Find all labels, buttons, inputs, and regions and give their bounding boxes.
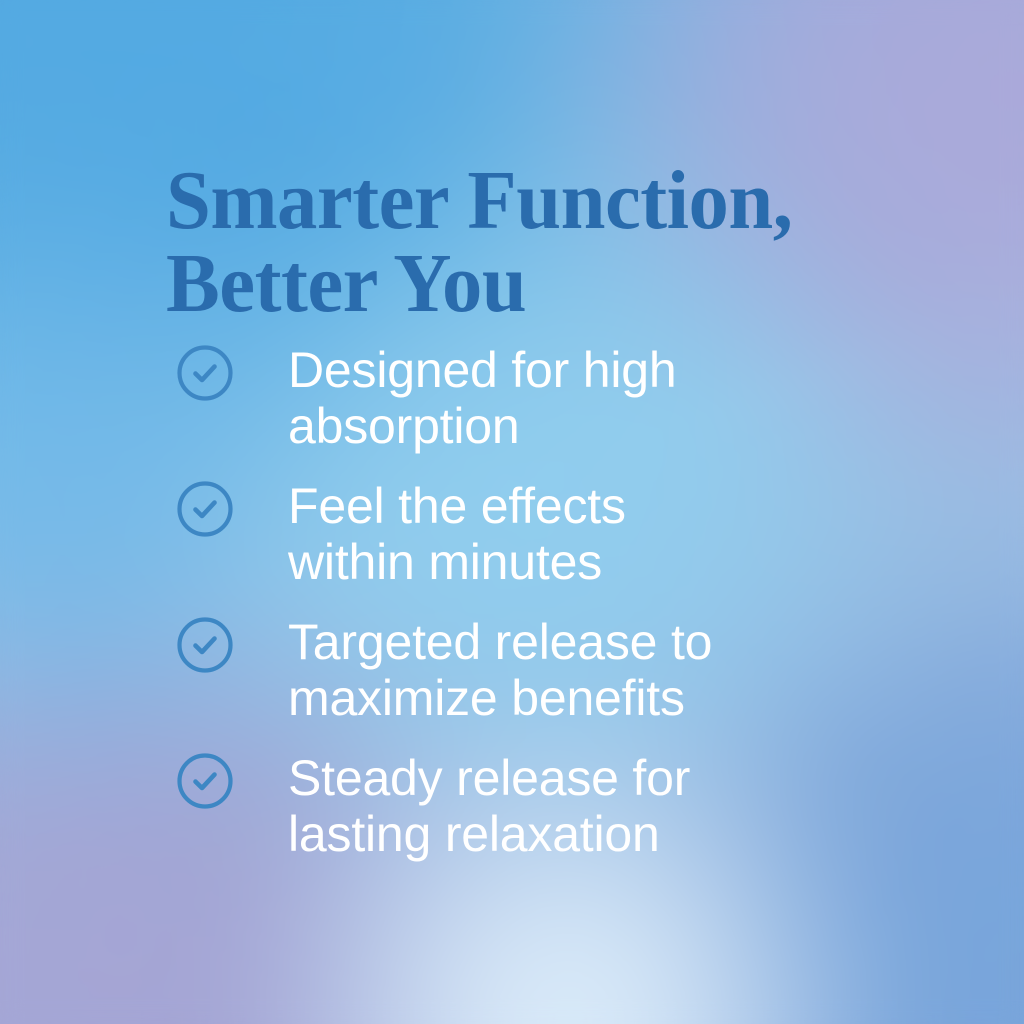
- check-circle-icon: [176, 616, 234, 674]
- check-circle-icon: [176, 480, 234, 538]
- list-item-label: Targeted release to maximize benefits: [288, 612, 712, 726]
- list-item-label: Designed for high absorption: [288, 340, 677, 454]
- list-item: Targeted release to maximize benefits: [176, 612, 876, 726]
- promo-graphic: Smarter Function, Better You Designed fo…: [0, 0, 1024, 1024]
- list-item: Feel the effects within minutes: [176, 476, 876, 590]
- list-item-label: Feel the effects within minutes: [288, 476, 626, 590]
- list-item: Steady release for lasting relaxation: [176, 748, 876, 862]
- content-layer: Smarter Function, Better You Designed fo…: [0, 0, 1024, 1024]
- page-title: Smarter Function, Better You: [166, 160, 896, 325]
- list-item-label: Steady release for lasting relaxation: [288, 748, 690, 862]
- check-circle-icon: [176, 752, 234, 810]
- list-item: Designed for high absorption: [176, 340, 876, 454]
- check-circle-icon: [176, 344, 234, 402]
- benefits-list: Designed for high absorption Feel the ef…: [176, 340, 876, 862]
